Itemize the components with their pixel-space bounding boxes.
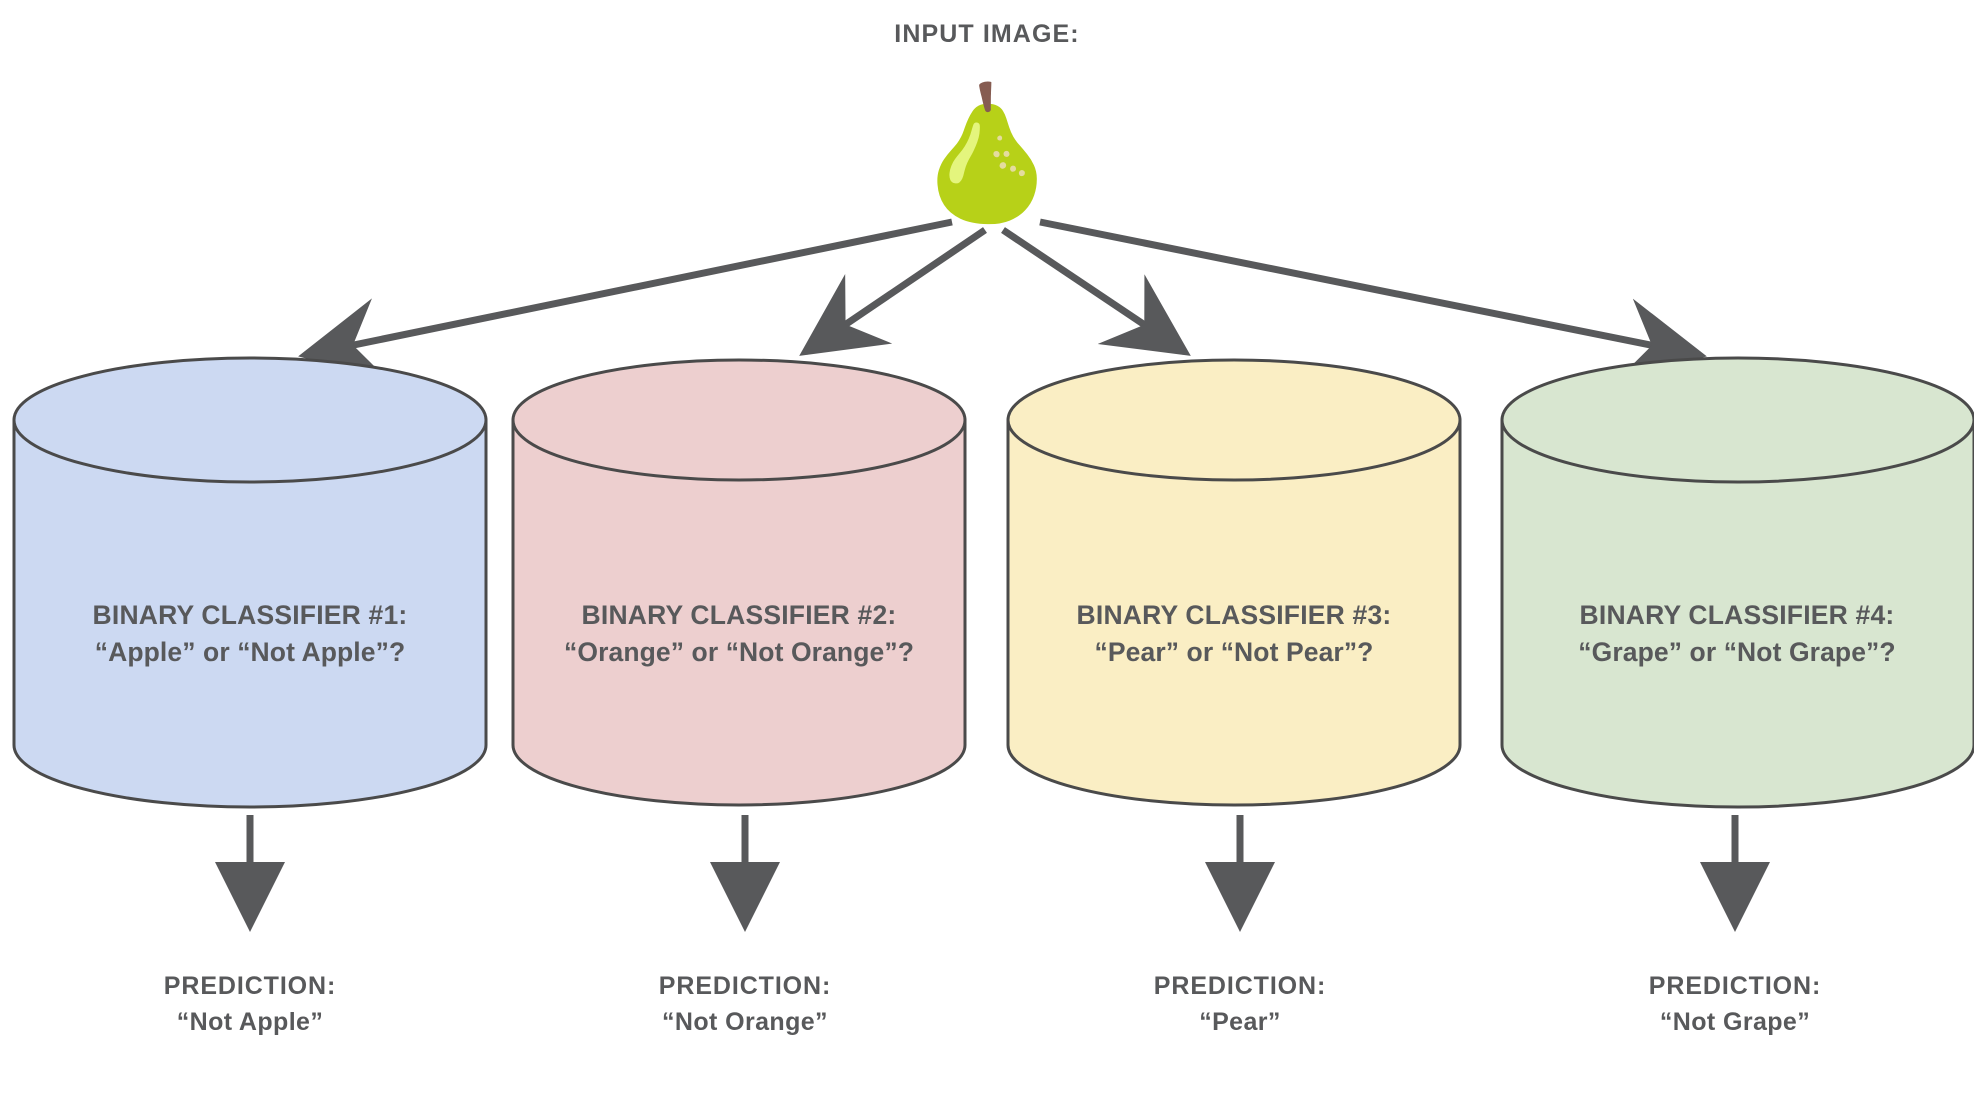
cylinder-classifier-2[interactable] bbox=[513, 360, 965, 805]
classifier-4-label: BINARY CLASSIFIER #4: “Grape” or “Not Gr… bbox=[1500, 597, 1974, 670]
classifier-3-label: BINARY CLASSIFIER #3: “Pear” or “Not Pea… bbox=[1003, 597, 1465, 670]
classifier-3-question: “Pear” or “Not Pear”? bbox=[1003, 634, 1465, 671]
classifier-1-title: BINARY CLASSIFIER #1: bbox=[14, 597, 486, 634]
prediction-1-label: PREDICTION: bbox=[14, 968, 486, 1004]
classifier-1-question: “Apple” or “Not Apple”? bbox=[14, 634, 486, 671]
diagram-canvas: INPUT IMAGE: 🍐 bbox=[0, 0, 1974, 1100]
prediction-classifier-1: PREDICTION: “Not Apple” bbox=[14, 968, 486, 1041]
classifier-2-title: BINARY CLASSIFIER #2: bbox=[508, 597, 970, 634]
classifier-2-question: “Orange” or “Not Orange”? bbox=[508, 634, 970, 671]
connector-arrows bbox=[0, 0, 1974, 1100]
prediction-classifier-3: PREDICTION: “Pear” bbox=[1004, 968, 1476, 1041]
classifier-1-label: BINARY CLASSIFIER #1: “Apple” or “Not Ap… bbox=[14, 597, 486, 670]
classifier-3-title: BINARY CLASSIFIER #3: bbox=[1003, 597, 1465, 634]
prediction-classifier-4: PREDICTION: “Not Grape” bbox=[1499, 968, 1971, 1041]
prediction-2-value: “Not Orange” bbox=[509, 1004, 981, 1040]
cylinder-classifier-3[interactable] bbox=[1008, 360, 1460, 805]
classifier-2-label: BINARY CLASSIFIER #2: “Orange” or “Not O… bbox=[508, 597, 970, 670]
classifier-4-title: BINARY CLASSIFIER #4: bbox=[1500, 597, 1974, 634]
prediction-1-value: “Not Apple” bbox=[14, 1004, 486, 1040]
arrow-input-to-classifier-4 bbox=[1040, 222, 1700, 355]
prediction-3-value: “Pear” bbox=[1004, 1004, 1476, 1040]
cylinder-classifier-4[interactable] bbox=[1502, 358, 1974, 807]
prediction-4-value: “Not Grape” bbox=[1499, 1004, 1971, 1040]
prediction-2-label: PREDICTION: bbox=[509, 968, 981, 1004]
classifier-4-question: “Grape” or “Not Grape”? bbox=[1500, 634, 1974, 671]
cylinder-classifier-1[interactable] bbox=[14, 358, 486, 807]
prediction-4-label: PREDICTION: bbox=[1499, 968, 1971, 1004]
prediction-classifier-2: PREDICTION: “Not Orange” bbox=[509, 968, 981, 1041]
arrow-input-to-classifier-1 bbox=[305, 222, 952, 355]
prediction-3-label: PREDICTION: bbox=[1004, 968, 1476, 1004]
